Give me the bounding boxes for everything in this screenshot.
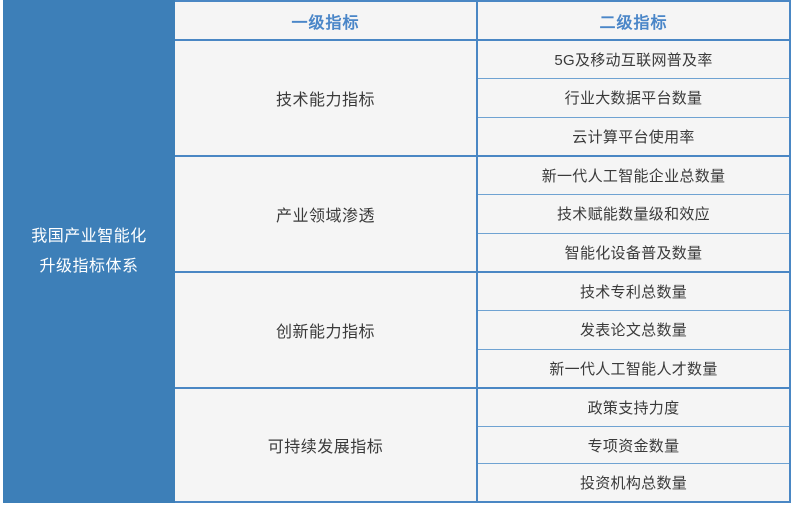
- indicator-item: 行业大数据平台数量: [478, 79, 789, 117]
- root-title-panel: 我国产业智能化 升级指标体系: [3, 0, 175, 503]
- category-group-industry-penetration: 产业领域渗透 新一代人工智能企业总数量 技术赋能数量级和效应 智能化设备普及数量: [175, 157, 791, 273]
- indicator-item: 技术赋能数量级和效应: [478, 195, 789, 233]
- category-label-technology: 技术能力指标: [175, 41, 478, 155]
- indicator-list-technology: 5G及移动互联网普及率 行业大数据平台数量 云计算平台使用率: [478, 41, 791, 155]
- category-group-sustainability: 可持续发展指标 政策支持力度 专项资金数量 投资机构总数量: [175, 389, 791, 503]
- indicator-system-table: 我国产业智能化 升级指标体系 一级指标 二级指标 技术能力指标 5G及移动互联网…: [0, 0, 802, 506]
- category-group-innovation: 创新能力指标 技术专利总数量 发表论文总数量 新一代人工智能人才数量: [175, 273, 791, 389]
- indicator-item: 新一代人工智能人才数量: [478, 350, 789, 387]
- indicator-item: 智能化设备普及数量: [478, 234, 789, 271]
- indicator-list-innovation: 技术专利总数量 发表论文总数量 新一代人工智能人才数量: [478, 273, 791, 387]
- indicator-item: 5G及移动互联网普及率: [478, 41, 789, 79]
- indicator-list-sustainability: 政策支持力度 专项资金数量 投资机构总数量: [478, 389, 791, 501]
- table-header-row: 一级指标 二级指标: [175, 0, 791, 41]
- indicator-item: 投资机构总数量: [478, 464, 789, 501]
- indicator-item: 专项资金数量: [478, 427, 789, 465]
- indicator-item: 发表论文总数量: [478, 311, 789, 349]
- indicator-item: 新一代人工智能企业总数量: [478, 157, 789, 195]
- category-label-innovation: 创新能力指标: [175, 273, 478, 387]
- root-title-label: 我国产业智能化 升级指标体系: [31, 222, 147, 282]
- indicator-item: 技术专利总数量: [478, 273, 789, 311]
- header-cell-secondary-indicator: 二级指标: [478, 2, 791, 39]
- indicator-item: 云计算平台使用率: [478, 118, 789, 155]
- category-label-sustainability: 可持续发展指标: [175, 389, 478, 501]
- category-label-industry-penetration: 产业领域渗透: [175, 157, 478, 271]
- indicator-list-industry-penetration: 新一代人工智能企业总数量 技术赋能数量级和效应 智能化设备普及数量: [478, 157, 791, 271]
- indicator-item: 政策支持力度: [478, 389, 789, 427]
- header-cell-primary-indicator: 一级指标: [175, 2, 478, 39]
- category-group-technology: 技术能力指标 5G及移动互联网普及率 行业大数据平台数量 云计算平台使用率: [175, 41, 791, 157]
- table-body: 一级指标 二级指标 技术能力指标 5G及移动互联网普及率 行业大数据平台数量 云…: [175, 0, 791, 503]
